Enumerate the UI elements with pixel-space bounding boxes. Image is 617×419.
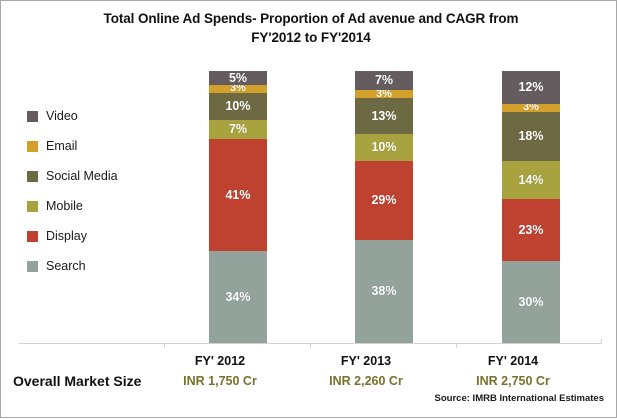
bar-segment-label-mobile-fy2014: 14%: [518, 174, 543, 187]
bar-segment-label-display-fy2012: 41%: [225, 189, 250, 202]
bar-segment-search-fy2014: 30%: [502, 261, 560, 343]
bar-segment-video-fy2014: 12%: [502, 71, 560, 104]
x-axis-end-tick: [601, 339, 602, 344]
footer-year-fy2012: FY' 2012: [150, 351, 290, 371]
chart-title: Total Online Ad Spends- Proportion of Ad…: [41, 9, 581, 47]
stacked-bar-fy2013: 7%3%13%10%29%38%: [355, 71, 413, 343]
bar-segment-display-fy2012: 41%: [209, 139, 267, 251]
bar-segment-label-email-fy2012: 3%: [230, 85, 246, 93]
source-note: Source: IMRB International Estimates: [435, 393, 604, 404]
bar-segment-email-fy2013: 3%: [355, 90, 413, 98]
chart-title-line-1: Total Online Ad Spends- Proportion of Ad…: [41, 9, 581, 28]
bar-segment-email-fy2014: 3%: [502, 104, 560, 112]
bar-segment-mobile-fy2014: 14%: [502, 161, 560, 199]
footer-column-fy2012: FY' 2012 INR 1,750 Cr: [150, 351, 290, 391]
x-axis-tick-2: [310, 344, 311, 348]
bar-segment-label-video-fy2013: 7%: [375, 74, 393, 87]
bar-segment-mobile-fy2013: 10%: [355, 134, 413, 161]
bar-segment-label-mobile-fy2013: 10%: [371, 141, 396, 154]
bar-segment-display-fy2013: 29%: [355, 161, 413, 240]
chart-footer: Overall Market Size FY' 2012 INR 1,750 C…: [1, 349, 617, 419]
bar-segment-search-fy2013: 38%: [355, 240, 413, 343]
bar-segment-label-video-fy2012: 5%: [229, 72, 247, 85]
footer-value-fy2014: INR 2,750 Cr: [443, 371, 583, 391]
stacked-bar-fy2012: 5%3%10%7%41%34%: [209, 71, 267, 343]
bar-segment-display-fy2014: 23%: [502, 199, 560, 262]
bar-segment-search-fy2012: 34%: [209, 251, 267, 343]
bar-segment-mobile-fy2012: 7%: [209, 120, 267, 139]
chart-image-frame: Total Online Ad Spends- Proportion of Ad…: [0, 0, 617, 418]
bar-segment-social-media-fy2013: 13%: [355, 98, 413, 133]
bar-segment-label-email-fy2013: 3%: [376, 90, 392, 98]
overall-market-size-label: Overall Market Size: [13, 373, 141, 389]
bar-segment-label-social-media-fy2012: 10%: [225, 100, 250, 113]
bar-segment-video-fy2012: 5%: [209, 71, 267, 85]
footer-value-fy2012: INR 1,750 Cr: [150, 371, 290, 391]
footer-year-fy2013: FY' 2013: [296, 351, 436, 371]
bar-segment-email-fy2012: 3%: [209, 85, 267, 93]
x-axis-tick-1: [164, 344, 165, 348]
bar-segment-video-fy2013: 7%: [355, 71, 413, 90]
bar-segment-social-media-fy2014: 18%: [502, 112, 560, 161]
bar-segment-label-display-fy2014: 23%: [518, 224, 543, 237]
bar-segment-social-media-fy2012: 10%: [209, 93, 267, 120]
footer-column-fy2013: FY' 2013 INR 2,260 Cr: [296, 351, 436, 391]
bar-segment-label-mobile-fy2012: 7%: [229, 123, 247, 136]
stacked-bar-fy2014: 12%3%18%14%23%30%: [502, 71, 560, 343]
bar-segment-label-search-fy2013: 38%: [371, 285, 396, 298]
bar-segment-label-display-fy2013: 29%: [371, 194, 396, 207]
bar-segment-label-search-fy2014: 30%: [518, 296, 543, 309]
footer-column-fy2014: FY' 2014 INR 2,750 Cr: [443, 351, 583, 391]
x-axis-tick-3: [456, 344, 457, 348]
bar-segment-label-email-fy2014: 3%: [523, 104, 539, 112]
chart-title-line-2: FY'2012 to FY'2014: [41, 28, 581, 47]
footer-year-fy2014: FY' 2014: [443, 351, 583, 371]
footer-value-fy2013: INR 2,260 Cr: [296, 371, 436, 391]
bar-segment-label-search-fy2012: 34%: [225, 291, 250, 304]
chart-plot-area: 5%3%10%7%41%34% 7%3%13%10%29%38% 12%3%18…: [19, 59, 602, 344]
bar-segment-label-social-media-fy2013: 13%: [371, 110, 396, 123]
bar-segment-label-social-media-fy2014: 18%: [518, 130, 543, 143]
bar-segment-label-video-fy2014: 12%: [518, 81, 543, 94]
